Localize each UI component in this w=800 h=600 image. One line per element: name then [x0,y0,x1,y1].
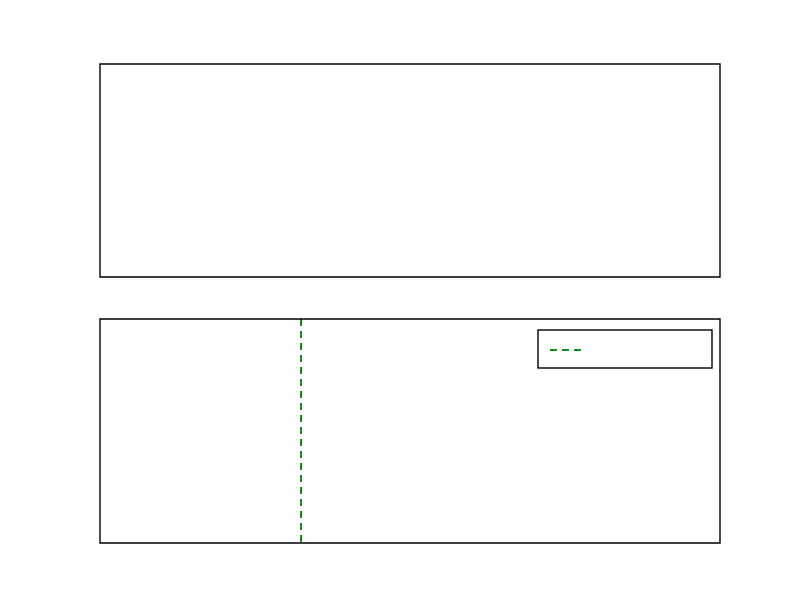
matplotlib-figure [0,0,800,600]
legend[interactable] [538,330,712,368]
top-axes-background [100,64,720,277]
figure-canvas [0,0,800,600]
top-axes [100,64,720,277]
bottom-axes [100,319,720,543]
